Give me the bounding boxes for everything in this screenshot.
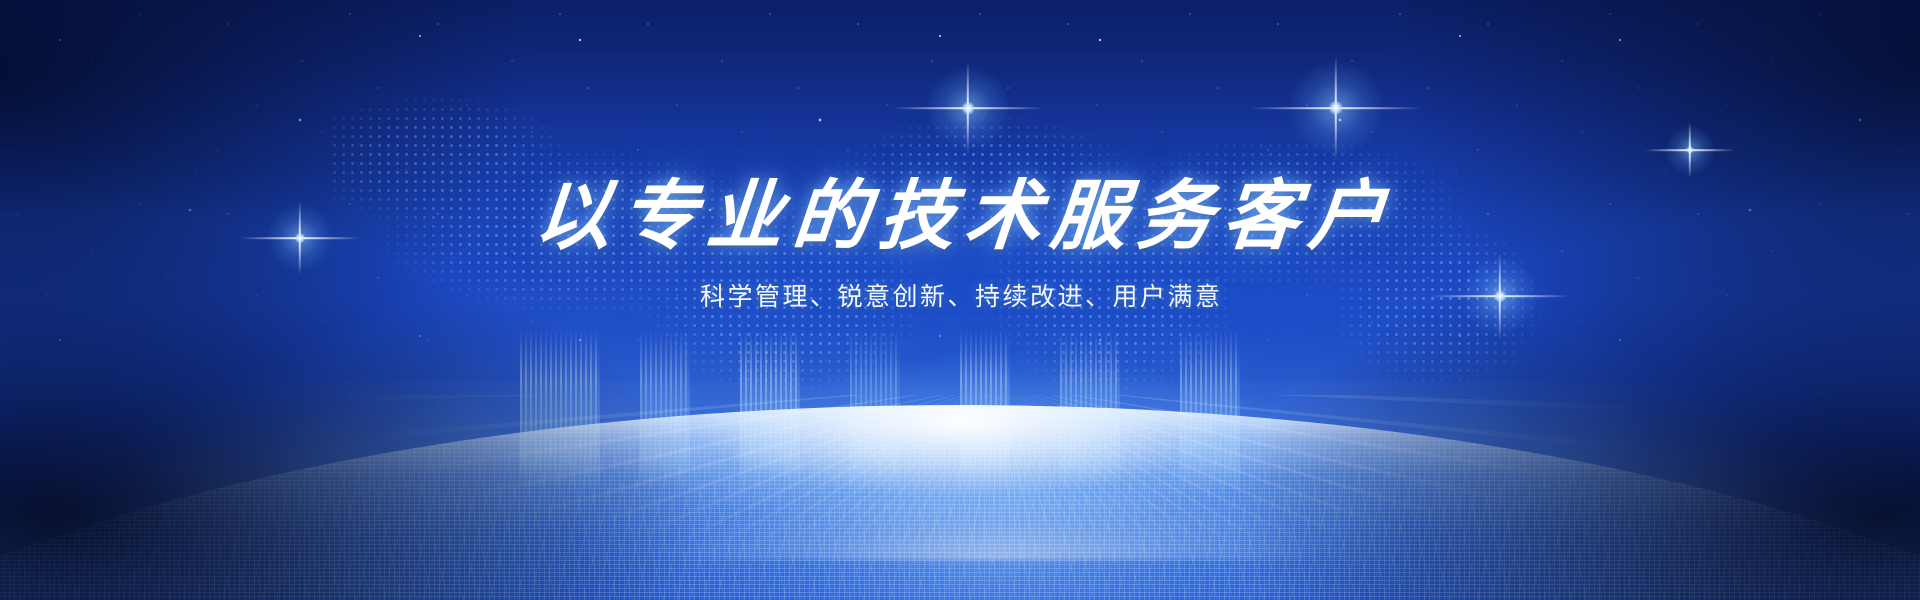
banner-subtitle: 科学管理、锐意创新、持续改进、用户满意 [0,284,1920,309]
banner-headline: 以专业的技术服务客户 [0,178,1920,254]
pixel-skyline [0,330,1920,490]
banner-text-block: 以专业的技术服务客户 科学管理、锐意创新、持续改进、用户满意 [0,178,1920,309]
globe-city-texture [0,405,1920,600]
glowing-earth-horizon [0,405,1920,600]
horizon-glow [0,320,1920,560]
hero-banner: 以专业的技术服务客户 科学管理、锐意创新、持续改进、用户满意 [0,0,1920,600]
globe-light-rays [0,395,1920,600]
lens-flare-center-icon [893,33,1043,183]
lens-flare-right-icon [1251,23,1421,193]
